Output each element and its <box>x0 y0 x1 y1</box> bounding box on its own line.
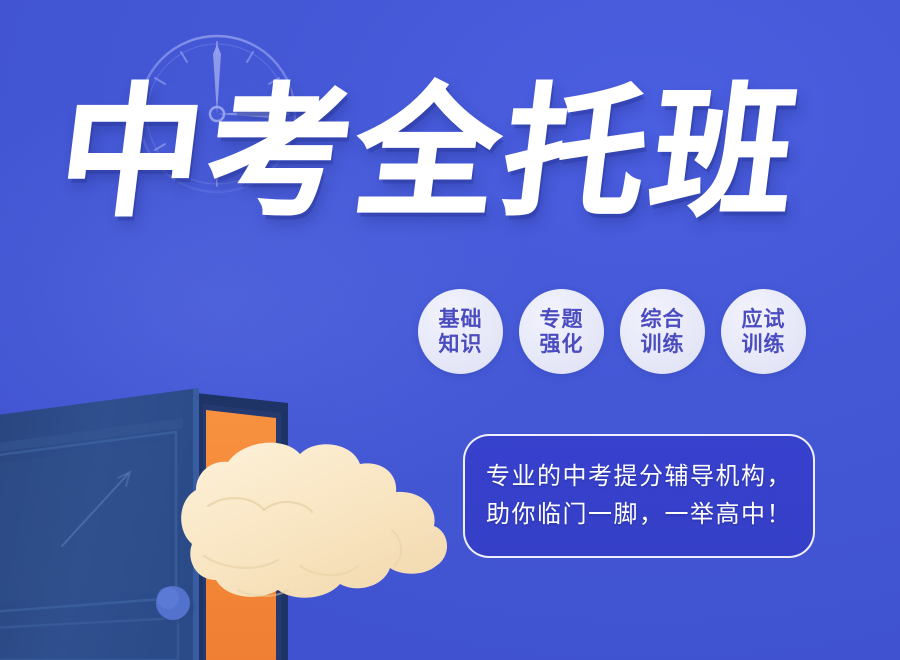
slogan-line-1: 专业的中考提分辅导机构， <box>486 458 792 496</box>
open-door-illustration <box>0 360 470 660</box>
badge-topic-intensive[interactable]: 专题 强化 <box>519 289 604 374</box>
badge-label-line1: 基础 <box>439 307 483 332</box>
badge-label-line1: 专题 <box>540 307 584 332</box>
poster-banner: 中考全托班 基础 知识 专题 强化 综合 训练 应试 训练 专业的中考提分辅导机… <box>0 0 900 660</box>
slogan-line-2: 助你临门一脚，一举高中！ <box>486 496 792 534</box>
badge-label-line2: 知识 <box>439 332 483 357</box>
badge-label-line2: 强化 <box>540 332 584 357</box>
feature-badge-list: 基础 知识 专题 强化 综合 训练 应试 训练 <box>418 289 808 377</box>
badge-label-line2: 训练 <box>742 332 786 357</box>
badge-comprehensive-training[interactable]: 综合 训练 <box>620 289 705 374</box>
slogan-box: 专业的中考提分辅导机构， 助你临门一脚，一举高中！ <box>463 434 815 558</box>
badge-label-line2: 训练 <box>641 332 685 357</box>
badge-exam-training[interactable]: 应试 训练 <box>721 289 806 374</box>
badge-label-line1: 综合 <box>641 307 685 332</box>
badge-label-line1: 应试 <box>742 307 786 332</box>
page-title: 中考全托班 <box>50 78 870 238</box>
